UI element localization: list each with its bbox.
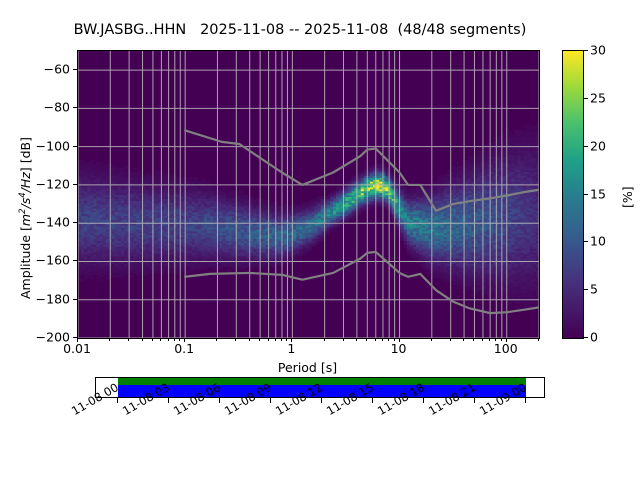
x-minor-tick-mark <box>538 338 539 341</box>
colorbar-tick-label: 25 <box>590 90 606 105</box>
x-tick-mark <box>184 338 185 342</box>
y-tick-mark <box>73 69 77 70</box>
colorbar-tick-mark <box>584 98 588 99</box>
colorbar-label: [%] <box>620 186 635 208</box>
x-minor-tick-mark <box>152 338 153 341</box>
y-tick-mark <box>73 146 77 147</box>
colorbar <box>562 50 584 339</box>
y-tick-label: −180 <box>10 291 70 306</box>
y-tick-mark <box>73 299 77 300</box>
colorbar-tick-mark <box>584 241 588 242</box>
colorbar-tick-mark <box>584 50 588 51</box>
x-minor-tick-mark <box>495 338 496 341</box>
colorbar-tick-label: 0 <box>590 330 598 345</box>
y-tick-label: −80 <box>10 100 70 115</box>
x-minor-tick-mark <box>268 338 269 341</box>
colorbar-tick-label: 30 <box>590 43 606 58</box>
x-tick-label: 1 <box>287 341 295 356</box>
x-minor-tick-mark <box>501 338 502 341</box>
timeline-tick-mark <box>219 398 220 403</box>
y-tick-mark <box>73 222 77 223</box>
x-minor-tick-mark <box>482 338 483 341</box>
x-tick-mark <box>506 338 507 342</box>
x-minor-tick-mark <box>168 338 169 341</box>
x-tick-label: 10 <box>391 341 407 356</box>
x-minor-tick-mark <box>394 338 395 341</box>
y-tick-label: −120 <box>10 176 70 191</box>
x-minor-tick-mark <box>259 338 260 341</box>
x-minor-tick-mark <box>375 338 376 341</box>
x-minor-tick-mark <box>431 338 432 341</box>
x-tick-mark <box>291 338 292 342</box>
timeline-tick-mark <box>372 398 373 403</box>
colorbar-tick-label: 5 <box>590 282 598 297</box>
figure-title: BW.JASBG..HHN 2025-11-08 -- 2025-11-08 (… <box>0 22 600 38</box>
timeline-tick-mark <box>321 398 322 403</box>
y-tick-label: −200 <box>10 330 70 345</box>
colorbar-tick-label: 20 <box>590 138 606 153</box>
y-tick-label: −140 <box>10 215 70 230</box>
ppsd-canvas <box>78 51 539 338</box>
x-minor-tick-mark <box>281 338 282 341</box>
y-tick-mark <box>73 260 77 261</box>
x-minor-tick-mark <box>142 338 143 341</box>
x-tick-label: 0.1 <box>174 341 194 356</box>
x-minor-tick-mark <box>388 338 389 341</box>
ppsd-figure: BW.JASBG..HHN 2025-11-08 -- 2025-11-08 (… <box>0 0 640 480</box>
y-tick-mark <box>73 184 77 185</box>
x-minor-tick-mark <box>109 338 110 341</box>
y-tick-label: −60 <box>10 62 70 77</box>
y-tick-mark <box>73 107 77 108</box>
x-minor-tick-mark <box>489 338 490 341</box>
x-minor-tick-mark <box>356 338 357 341</box>
x-tick-label: 0.01 <box>63 341 91 356</box>
x-minor-tick-mark <box>324 338 325 341</box>
colorbar-tick-mark <box>584 146 588 147</box>
x-minor-tick-mark <box>463 338 464 341</box>
colorbar-tick-label: 10 <box>590 234 606 249</box>
timeline-tick-mark <box>474 398 475 403</box>
ppsd-plot-area <box>77 50 540 339</box>
x-minor-tick-mark <box>382 338 383 341</box>
x-minor-tick-mark <box>275 338 276 341</box>
x-tick-mark <box>399 338 400 342</box>
timeline-tick-mark <box>423 398 424 403</box>
colorbar-tick-mark <box>584 337 588 338</box>
colorbar-tick-label: 15 <box>590 186 606 201</box>
x-axis-label: Period [s] <box>77 360 538 375</box>
x-minor-tick-mark <box>174 338 175 341</box>
x-tick-mark <box>77 338 78 342</box>
x-minor-tick-mark <box>179 338 180 341</box>
x-tick-label: 100 <box>494 341 518 356</box>
timeline-tick-mark <box>168 398 169 403</box>
x-minor-tick-mark <box>128 338 129 341</box>
y-tick-label: −160 <box>10 253 70 268</box>
x-minor-tick-mark <box>473 338 474 341</box>
x-minor-tick-mark <box>235 338 236 341</box>
x-minor-tick-mark <box>160 338 161 341</box>
x-minor-tick-mark <box>450 338 451 341</box>
colorbar-tick-mark <box>584 289 588 290</box>
timeline-tick-mark <box>117 398 118 403</box>
x-minor-tick-mark <box>343 338 344 341</box>
timeline-tick-mark <box>270 398 271 403</box>
x-minor-tick-mark <box>216 338 217 341</box>
x-minor-tick-mark <box>286 338 287 341</box>
y-tick-label: −100 <box>10 138 70 153</box>
x-minor-tick-mark <box>366 338 367 341</box>
colorbar-tick-mark <box>584 194 588 195</box>
timeline-tick-mark <box>525 398 526 403</box>
x-minor-tick-mark <box>249 338 250 341</box>
